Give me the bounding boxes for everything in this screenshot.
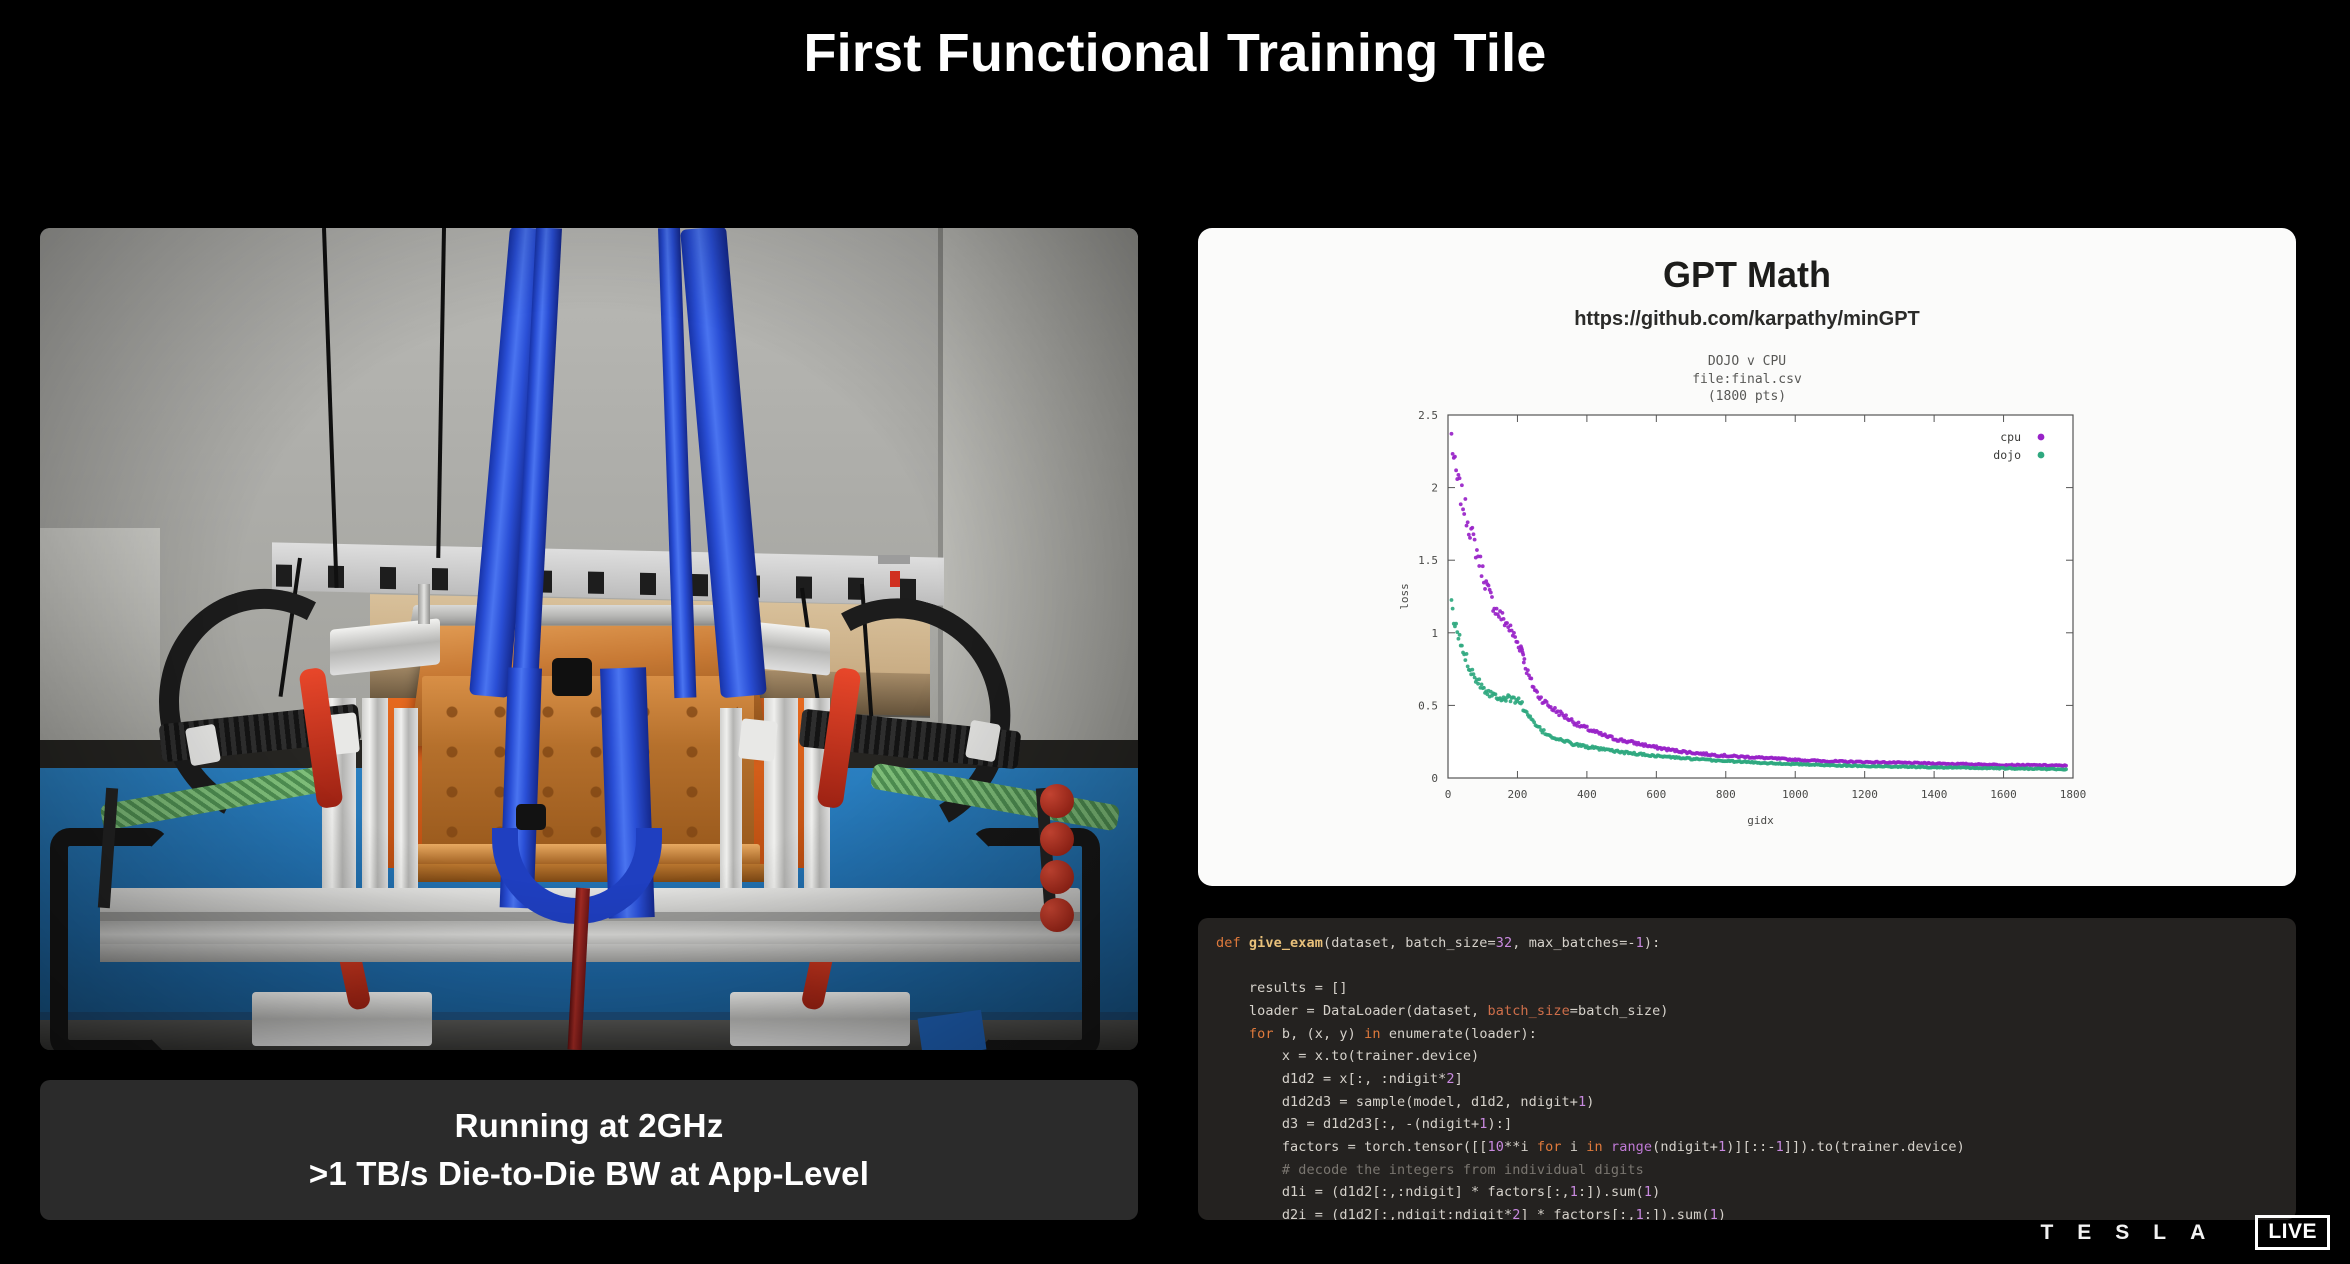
code-block: def give_exam(dataset, batch_size=32, ma… <box>1216 932 2278 1220</box>
svg-text:cpu: cpu <box>2000 430 2021 444</box>
svg-text:1600: 1600 <box>1990 788 2017 801</box>
caption-line-2: >1 TB/s Die-to-Die BW at App-Level <box>309 1155 869 1193</box>
svg-text:dojo: dojo <box>1993 448 2021 462</box>
svg-text:1: 1 <box>1431 627 1438 640</box>
svg-text:600: 600 <box>1646 788 1666 801</box>
svg-text:800: 800 <box>1716 788 1736 801</box>
photo-vignette <box>40 228 1138 1050</box>
svg-text:200: 200 <box>1508 788 1528 801</box>
svg-text:2.5: 2.5 <box>1418 409 1438 422</box>
svg-text:0: 0 <box>1445 788 1452 801</box>
svg-text:0: 0 <box>1431 772 1438 785</box>
svg-text:1800: 1800 <box>2060 788 2087 801</box>
page-title: First Functional Training Tile <box>0 22 2350 84</box>
svg-text:1000: 1000 <box>1782 788 1809 801</box>
svg-text:1.5: 1.5 <box>1418 554 1438 567</box>
svg-text:1200: 1200 <box>1851 788 1878 801</box>
gpt-math-chart-card: GPT Math https://github.com/karpathy/min… <box>1198 228 2296 886</box>
svg-text:0.5: 0.5 <box>1418 699 1438 712</box>
code-snippet-panel: def give_exam(dataset, batch_size=32, ma… <box>1198 918 2296 1220</box>
svg-text:1400: 1400 <box>1921 788 1948 801</box>
tesla-wordmark: TESLA <box>2040 1221 2229 1245</box>
training-tile-photo <box>40 228 1138 1050</box>
footer-brand: TESLA LIVE <box>2040 1215 2330 1250</box>
loss-curve-svg: 02004006008001000120014001600180000.511.… <box>1198 228 2296 886</box>
loss-curve-plot: 02004006008001000120014001600180000.511.… <box>1198 228 2296 886</box>
svg-text:2: 2 <box>1431 482 1438 495</box>
live-badge: LIVE <box>2255 1215 2330 1250</box>
photo-caption: Running at 2GHz >1 TB/s Die-to-Die BW at… <box>40 1080 1138 1220</box>
svg-text:gidx: gidx <box>1747 814 1774 827</box>
svg-text:400: 400 <box>1577 788 1597 801</box>
caption-line-1: Running at 2GHz <box>455 1107 724 1145</box>
svg-text:loss: loss <box>1398 583 1411 610</box>
